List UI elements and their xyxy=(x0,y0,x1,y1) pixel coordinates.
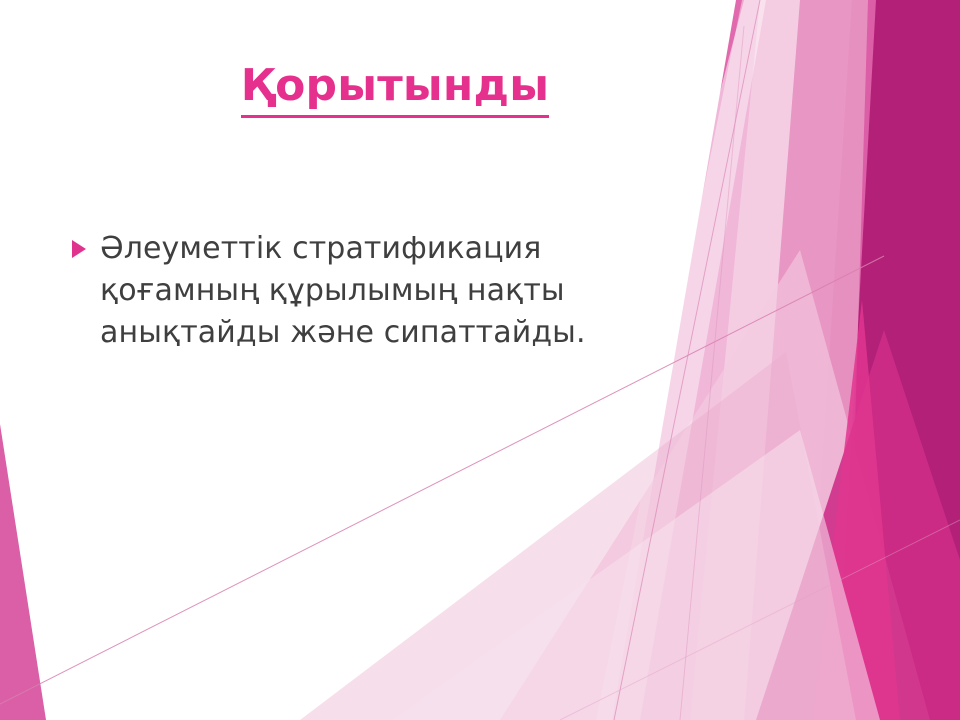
decor-magenta-facet-bottom xyxy=(756,330,960,720)
decor-magenta-sliver xyxy=(812,300,900,720)
decor-hairline-lower-right xyxy=(560,520,960,720)
list-item: Әлеуметтік стратификация қоғамның құрылы… xyxy=(72,228,672,354)
page-title: Қорытынды xyxy=(241,62,549,118)
decor-right-dark-column xyxy=(806,0,960,720)
triangle-right-icon xyxy=(72,240,90,258)
decor-fan-overlay xyxy=(392,430,880,720)
title-block: Қорытынды xyxy=(0,62,790,118)
presentation-slide: Қорытынды Әлеуметтік стратификация қоғам… xyxy=(0,0,960,720)
decor-bottom-left-wedge xyxy=(0,424,46,720)
decor-lower-left-fan xyxy=(300,352,856,720)
bullet-text: Әлеуметтік стратификация қоғамның құрылы… xyxy=(100,228,672,354)
body-content: Әлеуметтік стратификация қоғамның құрылы… xyxy=(72,228,672,354)
decor-hairline-steep-secondary xyxy=(680,26,744,720)
